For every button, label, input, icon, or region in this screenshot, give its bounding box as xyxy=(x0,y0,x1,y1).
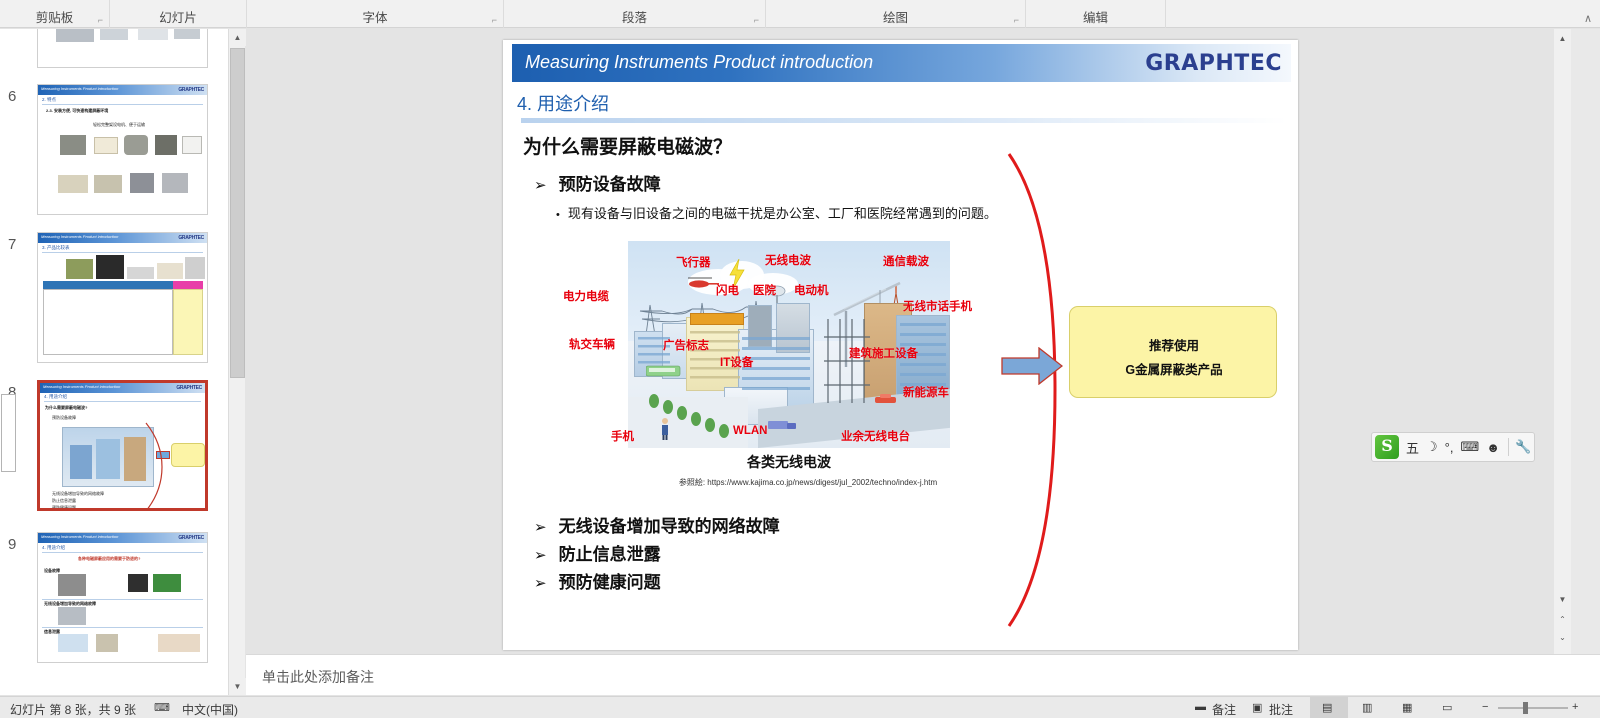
thumb9-divider-1 xyxy=(42,599,203,600)
thumb5-art-4 xyxy=(174,29,200,39)
thumb9-header: Measuring Instruments Product introducti… xyxy=(38,533,207,543)
right-outer-strip xyxy=(1571,29,1600,695)
ribbon-bar: 剪贴板 ⌐ 幻灯片 幻灯片 字体 ⌐ 段落 ⌐ 绘图 ⌐ 编辑 ∧ xyxy=(0,0,1600,28)
arrow-bullet-icon-2: ➢ xyxy=(534,519,547,536)
thumb6-art-a4 xyxy=(155,135,177,155)
ime-input-mode-icon[interactable]: 五 xyxy=(1406,438,1419,457)
slide-bullet-health[interactable]: ➢预防健康问题 xyxy=(534,568,661,593)
thumb6-header-title: Measuring Instruments Product introducti… xyxy=(41,86,118,91)
thumbnail-slide-6-image[interactable]: Measuring Instruments Product introducti… xyxy=(37,84,208,215)
ime-punctuation-icon[interactable]: °, xyxy=(1445,440,1454,455)
thumb7-header: Measuring Instruments Product introducti… xyxy=(38,233,207,243)
callout-line-2: G金属屏蔽类产品 xyxy=(1070,359,1278,378)
zoom-in-button[interactable]: + xyxy=(1572,701,1578,713)
ribbon-group-slides[interactable]: 幻灯片 幻灯片 xyxy=(110,0,247,28)
drawing-dialog-launcher[interactable]: ⌐ xyxy=(1014,15,1019,25)
person-with-phone-icon xyxy=(658,417,672,441)
ime-keyboard-icon[interactable]: ⌨ xyxy=(1460,439,1479,455)
language-label[interactable]: 中文(中国) xyxy=(182,701,238,718)
picture-label-jianzhushigongshebei: 建筑施工设备 xyxy=(849,345,918,361)
slide-scrollbar-thumb[interactable] xyxy=(1,394,16,472)
thumb7-photo-3 xyxy=(127,267,154,279)
thumb7-table-col-highlight xyxy=(173,289,203,355)
thumb8-bullet-0: 预防设备故障 xyxy=(52,415,76,421)
thumb6-logo: GRAPHTEC xyxy=(178,87,204,93)
thumb9-rule xyxy=(42,552,203,553)
zoom-out-button[interactable]: − xyxy=(1482,701,1488,713)
thumb7-table-hdr xyxy=(43,281,173,289)
thumb7-photo-5 xyxy=(185,257,205,279)
thumb9-photo-5 xyxy=(58,634,88,652)
picture-label-yiyuan: 医院 xyxy=(753,282,776,298)
ribbon-group-slides-label: 幻灯片 xyxy=(110,7,246,26)
notes-toggle-icon[interactable]: ▬ xyxy=(1195,701,1206,713)
picture-label-wuxianshihuashouji: 无线市话手机 xyxy=(903,298,972,314)
thumb8-callout xyxy=(171,443,205,467)
font-dialog-launcher[interactable]: ⌐ xyxy=(492,15,497,25)
thumb6-art-b1 xyxy=(58,175,88,193)
thumb6-section: 2. 特点 xyxy=(42,97,56,103)
ime-separator xyxy=(1508,438,1509,456)
thumb9-divider-2 xyxy=(42,627,203,628)
thumb7-header-title: Measuring Instruments Product introducti… xyxy=(41,234,118,239)
arrow-bullet-icon-4: ➢ xyxy=(534,575,547,592)
ribbon-group-paragraph-label: 段落 xyxy=(504,7,765,26)
slide-bullet-network-failure-label: 无线设备增加导致的网络故障 xyxy=(559,517,780,536)
ribbon-group-clipboard-label: 剪贴板 xyxy=(0,7,109,26)
thumbnail-slide-6-number: 6 xyxy=(8,88,16,105)
thumb9-title: 各种电磁屏蔽应用的需要于防退的? xyxy=(78,556,140,562)
picture-label-xinnengyuanche: 新能源车 xyxy=(903,384,949,400)
thumb6-art-b3 xyxy=(130,173,154,193)
thumb6-art-a1 xyxy=(60,135,86,155)
thumbnail-scrollbar-thumb[interactable] xyxy=(230,48,245,378)
thumb6-art-a2 xyxy=(94,137,118,154)
thumbnail-scroll-down-button[interactable]: ▼ xyxy=(229,678,246,695)
view-reading-icon[interactable]: ▦ xyxy=(1402,701,1412,714)
picture-label-yeyuwuxiandiantai: 业余无线电台 xyxy=(841,428,910,444)
thumb9-photo-1 xyxy=(58,574,86,596)
thumb7-rule xyxy=(42,252,203,253)
thumb9-section: 4. 用途介绍 xyxy=(42,545,65,551)
slide-sub-bullet[interactable]: •现有设备与旧设备之间的电磁干扰是办公室、工厂和医院经常遇到的问题。 xyxy=(556,203,997,222)
notes-pane[interactable]: 单击此处添加备注 xyxy=(246,654,1600,695)
slide-header-title: Measuring Instruments Product introducti… xyxy=(525,52,873,73)
ime-user-icon[interactable]: ☻ xyxy=(1486,440,1500,455)
zoom-slider-track[interactable] xyxy=(1498,707,1568,709)
picture-label-diandongji: 电动机 xyxy=(794,282,829,298)
thumb5-art-3 xyxy=(138,29,168,40)
thumb7-logo: GRAPHTEC xyxy=(178,235,204,241)
ribbon-group-font[interactable]: 字体 ⌐ xyxy=(247,0,504,28)
language-keyboard-icon[interactable]: ⌨ xyxy=(154,701,170,714)
graphtec-logo: GRAPHTEC xyxy=(1145,51,1282,76)
dot-bullet-icon: • xyxy=(556,209,560,221)
thumb5-art-1 xyxy=(56,29,94,42)
blue-arrow-icon xyxy=(1001,347,1063,385)
thumb9-logo: GRAPHTEC xyxy=(178,535,204,541)
thumb8-red-bracket-icon xyxy=(144,421,166,511)
thumbnail-slide-7-image[interactable]: Measuring Instruments Product introducti… xyxy=(37,232,208,363)
view-slide-sorter-icon[interactable]: ▥ xyxy=(1362,701,1372,714)
thumbnail-slide-8-image[interactable]: Measuring Instruments Product introducti… xyxy=(37,380,208,511)
thumb6-art-a3 xyxy=(124,135,148,155)
thumb8-bullet-1: 无线设备增加导致的网络故障 xyxy=(52,491,104,497)
thumb8-header: Measuring Instruments Product introducti… xyxy=(40,383,205,393)
arrow-bullet-icon-3: ➢ xyxy=(534,547,547,564)
thumbnail-pane-scrollbar[interactable]: ▲ ▼ xyxy=(228,29,245,695)
sogou-ime-toolbar[interactable]: S 五 ☽ °, ⌨ ☻ 🔧 xyxy=(1371,432,1535,462)
picture-label-WLAN: WLAN xyxy=(733,425,768,437)
scaffolding-icon xyxy=(824,319,870,405)
previous-slide-button[interactable]: ⌃ xyxy=(1554,612,1571,628)
thumb9-photo-6 xyxy=(96,634,118,652)
picture-label-guanggaobiaozhi: 广告标志 xyxy=(663,337,709,353)
sogou-logo-icon[interactable]: S xyxy=(1375,435,1399,459)
thumb7-table-hdr-highlight xyxy=(173,281,203,289)
thumb7-photo-4 xyxy=(157,263,183,279)
thumb7-section: 3. 产品比较表 xyxy=(42,245,70,251)
ribbon-group-font-label: 字体 xyxy=(247,7,503,26)
thumb6-header: Measuring Instruments Product introducti… xyxy=(38,85,207,95)
next-slide-button[interactable]: ⌄ xyxy=(1554,630,1571,646)
recommendation-callout-box[interactable]: 推荐使用 G金属屏蔽类产品 xyxy=(1069,306,1277,398)
thumb6-art-a5 xyxy=(182,136,202,154)
thumb6-art-b4 xyxy=(162,173,188,193)
thumbnail-slide-9-number: 9 xyxy=(8,536,16,553)
view-slideshow-icon[interactable]: ▭ xyxy=(1442,701,1452,714)
slide-section-title[interactable]: 4. 用途介绍 xyxy=(517,90,609,116)
thumb9-header-title: Measuring Instruments Product introducti… xyxy=(41,534,118,539)
thumb8-logo: GRAPHTEC xyxy=(176,385,202,391)
thumb8-picture-detail-1 xyxy=(70,445,92,479)
picture-label-wuxiandianbo: 无线电波 xyxy=(765,252,811,268)
thumb9-photo-7 xyxy=(158,634,200,652)
ribbon-group-drawing-label: 绘图 xyxy=(766,7,1025,26)
zoom-slider-knob[interactable] xyxy=(1523,702,1528,714)
notes-placeholder[interactable]: 单击此处添加备注 xyxy=(262,667,374,687)
status-bar: 幻灯片 第 8 张，共 9 张 ⌨ 中文(中国) ▬ 备注 ▣ 批注 ▤ ▥ ▦… xyxy=(0,696,1600,718)
slide-bullet-main[interactable]: ➢预防设备故障 xyxy=(534,170,661,195)
slide-bullet-info-leak-label: 防止信息泄露 xyxy=(559,545,661,564)
thumb8-bullet-3: 预防健康问题 xyxy=(52,505,76,511)
slide-view-scrollbar[interactable] xyxy=(1554,29,1571,654)
collapse-ribbon-icon[interactable]: ∧ xyxy=(1584,12,1592,25)
thumbnail-slide-7-number: 7 xyxy=(8,236,16,253)
thumb8-picture-detail-3 xyxy=(124,437,146,481)
thumb7-photo-2 xyxy=(96,255,124,279)
thumb9-photo-3 xyxy=(153,574,181,592)
ribbon-group-clipboard[interactable]: 剪贴板 ⌐ xyxy=(0,0,110,28)
scroll-up-button[interactable]: ▲ xyxy=(1554,31,1571,47)
clipboard-dialog-launcher[interactable]: ⌐ xyxy=(98,15,103,25)
thumb7-table-body xyxy=(43,289,173,355)
scroll-down-button[interactable]: ▼ xyxy=(1554,592,1571,608)
ribbon-group-paragraph[interactable]: 段落 ⌐ xyxy=(504,0,766,28)
picture-label-tongxinzaibo: 通信载波 xyxy=(883,253,929,269)
picture-label-shouji: 手机 xyxy=(611,428,634,444)
red-car-icon xyxy=(874,393,898,405)
thumbnail-scroll-up-button[interactable]: ▲ xyxy=(229,29,246,46)
picture-label-shandian: 闪电 xyxy=(716,282,739,298)
red-curly-bracket-icon xyxy=(1003,150,1061,630)
thumb6-line-1: 2-3. 安装方便, 可快速构建屏蔽环境 xyxy=(46,108,108,114)
slide-bullet-network-failure[interactable]: ➢无线设备增加导致的网络故障 xyxy=(534,512,780,537)
ribbon-group-editing[interactable]: 编辑 xyxy=(1026,0,1166,28)
thumbnail-slide-5-image[interactable]: Measuring Instruments Product introducti… xyxy=(37,29,208,68)
view-normal-icon[interactable]: ▤ xyxy=(1322,701,1332,714)
thumb8-bullet-2: 防止信息泄露 xyxy=(52,498,76,504)
picture-label-ITshebei: IT设备 xyxy=(720,354,753,370)
thumb7-photo-1 xyxy=(66,259,93,279)
thumb6-art-b2 xyxy=(94,175,122,193)
ime-settings-wrench-icon[interactable]: 🔧 xyxy=(1515,439,1531,455)
slide-bullet-main-label: 预防设备故障 xyxy=(559,175,661,194)
slide-count-label: 幻灯片 第 8 张，共 9 张 xyxy=(10,701,136,718)
thumb6-rule xyxy=(42,104,203,105)
thumb9-photo-4 xyxy=(58,607,86,625)
thumb8-question: 为什么需要屏蔽电磁波? xyxy=(45,405,87,411)
arrow-bullet-icon: ➢ xyxy=(534,177,547,194)
thumb5-art-2 xyxy=(100,29,128,40)
slide-editor-area: Measuring Instruments Product introducti… xyxy=(246,29,1554,654)
notes-toggle-label[interactable]: 备注 xyxy=(1212,701,1236,718)
slide-question-heading[interactable]: 为什么需要屏蔽电磁波？ xyxy=(523,132,732,159)
train-icon xyxy=(646,363,686,379)
thumbnail-slide-9-image[interactable]: Measuring Instruments Product introducti… xyxy=(37,532,208,663)
slide-bullet-health-label: 预防健康问题 xyxy=(559,573,661,592)
ribbon-group-drawing[interactable]: 绘图 ⌐ xyxy=(766,0,1026,28)
picture-source-reference: 参照絵: https://www.kajima.co.jp/news/diges… xyxy=(598,477,1018,488)
thumb8-picture-detail-2 xyxy=(96,439,120,479)
current-slide[interactable]: Measuring Instruments Product introducti… xyxy=(503,40,1298,650)
slide-title-underline xyxy=(521,118,1287,123)
slide-thumbnail-pane[interactable]: Measuring Instruments Product introducti… xyxy=(0,29,228,695)
paragraph-dialog-launcher[interactable]: ⌐ xyxy=(754,15,759,25)
callout-line-1: 推荐使用 xyxy=(1070,335,1278,354)
ribbon-group-editing-label: 编辑 xyxy=(1026,7,1165,26)
comments-toggle-label[interactable]: 批注 xyxy=(1269,701,1293,718)
slide-sub-bullet-label: 现有设备与旧设备之间的电磁干扰是办公室、工厂和医院经常遇到的问题。 xyxy=(568,206,997,221)
picture-label-guijiaocheliang: 轨交车辆 xyxy=(569,336,615,352)
picture-label-feixingqi: 飞行器 xyxy=(676,254,711,270)
picture-label-dianlidianlan: 电力电缆 xyxy=(563,288,609,304)
thumb8-section: 4. 用途介绍 xyxy=(44,394,67,400)
thumb9-photo-2 xyxy=(128,574,148,592)
city-electromagnetic-waves-illustration[interactable]: 飞行器 无线电波 通信载波 闪电 医院 电动机 IT设备 广告标志 建筑施工设备… xyxy=(628,241,950,448)
thumb6-line-2: 轻松完整架设电机、便于运输 xyxy=(93,122,145,128)
comments-toggle-icon[interactable]: ▣ xyxy=(1252,701,1262,714)
slide-bullet-info-leak[interactable]: ➢防止信息泄露 xyxy=(534,540,661,565)
picture-caption: 各类无线电波 xyxy=(628,452,950,472)
thumb8-header-title: Measuring Instruments Product introducti… xyxy=(43,384,120,389)
blue-truck-icon xyxy=(768,417,798,431)
thumb8-rule xyxy=(44,401,201,402)
ime-moon-icon[interactable]: ☽ xyxy=(1426,439,1438,455)
